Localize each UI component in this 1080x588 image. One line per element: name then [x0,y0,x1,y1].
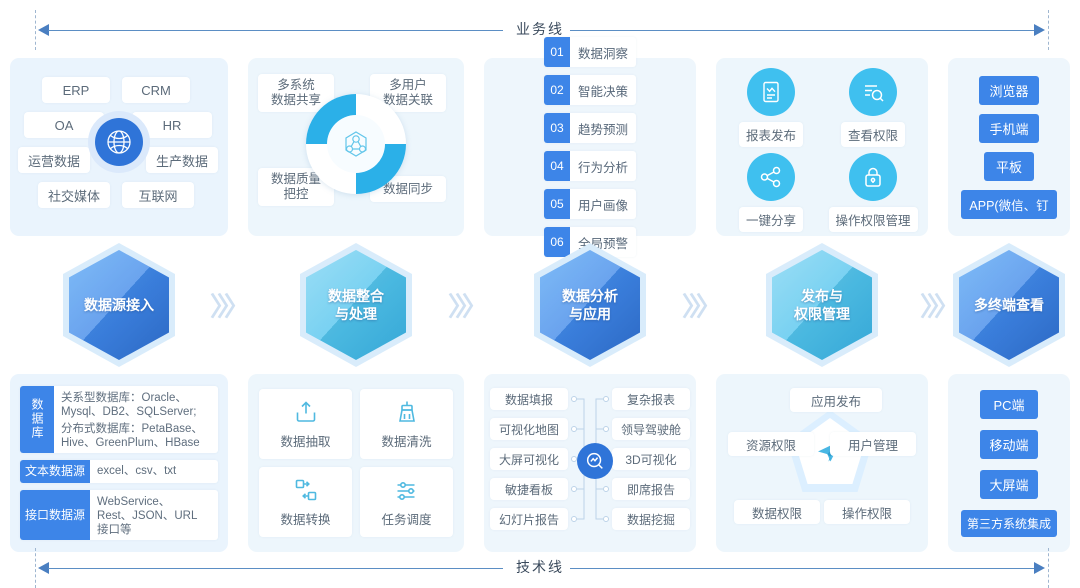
infographic-canvas: 业务线 ERP CRM OA HR 运营数据 生产数据 社交媒体 互联网 [0,0,1080,588]
stage-label-line1: 发布与 [801,288,843,304]
permission-node-user-mgmt[interactable]: 用户管理 [830,432,916,456]
mindmap-right-2[interactable]: 领导驾驶舱 [612,418,690,440]
db-row-key: 文本数据源 [20,460,90,483]
chip-line2: 把控 [283,187,308,202]
data-node-icon [327,115,385,173]
business-panels-row: ERP CRM OA HR 运营数据 生产数据 社交媒体 互联网 [0,58,1080,236]
db-row-value: excel、csv、txt [90,460,218,483]
mindmap-right-5[interactable]: 数据挖掘 [612,508,690,530]
stage-label: 多终端查看 [953,243,1065,367]
endpoint-button-bigscreen[interactable]: 大屏端 [980,470,1038,499]
business-panel-analysis: 01 数据洞察 02 智能决策 03 趋势预测 04 行为分析 [474,58,706,236]
chip-line1: 数据同步 [383,182,433,197]
num-label: 行为分析 [570,157,636,176]
icon-cell-label: 一键分享 [739,207,803,232]
globe-network-icon [95,118,143,166]
num-label: 数据洞察 [570,43,636,62]
tile-data-transform[interactable]: 数据转换 [259,467,352,537]
mindmap-left-5[interactable]: 幻灯片报告 [490,508,568,530]
db-line: 关系型数据库：Oracle、 [61,392,187,404]
icon-cell-operation-permission[interactable]: 操作权限管理 [829,153,917,232]
num-item-03[interactable]: 03 趋势预测 [544,113,636,143]
tile-data-extract[interactable]: 数据抽取 [259,389,352,459]
db-line: Mysql、DB2、SQLServer; [61,406,196,418]
tech-panel-etl: 数据抽取 数据清洗 [238,374,474,552]
icon-cell-label: 查看权限 [841,122,905,147]
db-row-value: WebService、 Rest、JSON、URL 接口等 [90,490,218,540]
mindmap-right-4[interactable]: 即席报告 [612,478,690,500]
business-panel-terminals: 浏览器 手机端 平板 APP(微信、钉 [938,58,1080,236]
db-line: Rest、JSON、URL [97,510,197,522]
chip-operational-data[interactable]: 运营数据 [18,147,90,173]
integration-donut-chart [306,94,406,194]
mindmap-left-3[interactable]: 大屏可视化 [490,448,568,470]
num-badge: 05 [544,189,570,219]
chip-line2: 数据关联 [383,93,433,108]
icon-cell-report-publish[interactable]: 报表发布 [727,68,815,147]
num-badge: 01 [544,37,570,67]
sliders-settings-icon [393,476,421,504]
mindmap-left-1[interactable]: 数据填报 [490,388,568,410]
tech-panel-datasource-types: 数据库 关系型数据库：Oracle、 Mysql、DB2、SQLServer; … [0,374,238,552]
tile-task-schedule[interactable]: 任务调度 [360,467,453,537]
technology-axis: 技术线 [0,548,1080,588]
terminal-button-tablet[interactable]: 平板 [984,152,1034,181]
chip-line1: 多用户 [389,78,427,93]
chip-erp[interactable]: ERP [42,77,110,103]
stage-label: 数据整合与处理 [300,243,412,367]
stage-label-line2: 权限管理 [794,306,850,322]
business-axis: 业务线 [0,10,1080,50]
db-line: 分布式数据库：PetaBase、 [61,423,203,435]
broom-clean-icon [393,398,421,426]
report-document-icon [747,68,795,116]
stage-4[interactable]: 发布与权限管理 〉〉〉 [706,240,938,370]
tile-label: 数据转换 [280,509,330,528]
num-badge: 02 [544,75,570,105]
tech-panel-applications: 数据填报 可视化地图 大屏可视化 敏捷看板 幻灯片报告 复杂报表 领导驾驶舱 3… [474,374,706,552]
num-label: 智能决策 [570,81,636,100]
terminal-button-app[interactable]: APP(微信、钉 [961,190,1057,219]
tile-label: 数据抽取 [280,431,330,450]
chip-line1: 数据质量 [271,172,321,187]
tile-label: 任务调度 [381,509,431,528]
permission-node-data[interactable]: 数据权限 [734,500,820,524]
stage-3[interactable]: 数据分析与应用 〉〉〉 [474,240,706,370]
db-line: WebService、 [97,496,170,508]
search-list-icon [849,68,897,116]
stage-1[interactable]: 数据源接入 〉〉〉 [0,240,238,370]
num-item-02[interactable]: 02 智能决策 [544,75,636,105]
tile-label: 数据清洗 [381,431,431,450]
chip-social-media[interactable]: 社交媒体 [38,182,110,208]
stage-label: 发布与权限管理 [766,243,878,367]
endpoint-button-pc[interactable]: PC端 [980,390,1038,419]
num-item-01[interactable]: 01 数据洞察 [544,37,636,67]
business-axis-label: 业务线 [0,19,1080,39]
analytics-search-icon [577,443,613,479]
num-badge: 04 [544,151,570,181]
upload-box-icon [292,398,320,426]
mindmap-left-2[interactable]: 可视化地图 [490,418,568,440]
num-badge: 03 [544,113,570,143]
permission-node-operation[interactable]: 操作权限 [824,500,910,524]
tech-panel-permissions: 应用发布 资源权限 用户管理 数据权限 操作权限 [706,374,938,552]
chip-line1: 多系统 [277,78,315,93]
business-panel-datasources: ERP CRM OA HR 运营数据 生产数据 社交媒体 互联网 [0,58,238,236]
stage-label-line1: 数据分析 [562,288,618,304]
stage-label-line1: 数据整合 [328,288,384,304]
tile-data-clean[interactable]: 数据清洗 [360,389,453,459]
icon-cell-label: 操作权限管理 [829,207,918,232]
stage-5[interactable]: 多终端查看 [938,240,1080,370]
stage-2[interactable]: 数据整合与处理 〉〉〉 [238,240,474,370]
transform-swap-icon [292,476,320,504]
icon-cell-one-click-share[interactable]: 一键分享 [727,153,815,232]
mindmap-right-1[interactable]: 复杂报表 [612,388,690,410]
icon-cell-label: 报表发布 [739,122,803,147]
stage-label-line2: 与处理 [335,306,377,322]
business-panel-integration: 多系统 数据共享 多用户 数据关联 数据质量 把控 数据同步 [238,58,474,236]
technology-panels-row: 数据库 关系型数据库：Oracle、 Mysql、DB2、SQLServer; … [0,374,1080,552]
stage-label: 数据分析与应用 [534,243,646,367]
terminal-button-browser[interactable]: 浏览器 [979,76,1039,105]
technology-axis-label: 技术线 [0,557,1080,577]
db-row-key: 数据库 [20,386,54,453]
lock-icon [849,153,897,201]
terminal-button-mobile[interactable]: 手机端 [979,114,1039,143]
db-row-text-source[interactable]: 文本数据源 excel、csv、txt [20,460,218,483]
mindmap-left-4[interactable]: 敏捷看板 [490,478,568,500]
icon-cell-view-permission[interactable]: 查看权限 [829,68,917,147]
chip-production-data[interactable]: 生产数据 [146,147,218,173]
db-row-value: 关系型数据库：Oracle、 Mysql、DB2、SQLServer; 分布式数… [54,386,218,453]
tech-panel-endpoints: PC端 移动端 大屏端 第三方系统集成 [938,374,1080,552]
share-nodes-icon [747,153,795,201]
db-row-api-source[interactable]: 接口数据源 WebService、 Rest、JSON、URL 接口等 [20,490,218,540]
endpoint-button-mobile[interactable]: 移动端 [980,430,1038,459]
db-row-database[interactable]: 数据库 关系型数据库：Oracle、 Mysql、DB2、SQLServer; … [20,386,218,453]
db-row-key: 接口数据源 [20,490,90,540]
stage-hexagon-row: 数据源接入 〉〉〉 数据整合与处理 〉〉〉 数据分析与应用 〉〉〉 [0,240,1080,370]
db-line: Hive、GreenPlum、HBase [61,437,200,449]
stage-label-line2: 与应用 [569,306,611,322]
permission-node-app-publish[interactable]: 应用发布 [790,388,882,412]
num-label: 趋势预测 [570,119,636,138]
db-line: 接口等 [97,524,132,536]
num-item-05[interactable]: 05 用户画像 [544,189,636,219]
permission-node-resource[interactable]: 资源权限 [728,432,814,456]
business-panel-publishing: 报表发布 查看权限 [706,58,938,236]
num-item-04[interactable]: 04 行为分析 [544,151,636,181]
endpoint-button-third-party[interactable]: 第三方系统集成 [961,510,1057,537]
chip-crm[interactable]: CRM [122,77,190,103]
num-label: 用户画像 [570,195,636,214]
stage-label: 数据源接入 [63,243,175,367]
chip-line2: 数据共享 [271,93,321,108]
mindmap-right-3[interactable]: 3D可视化 [612,448,690,470]
chip-internet[interactable]: 互联网 [122,182,194,208]
